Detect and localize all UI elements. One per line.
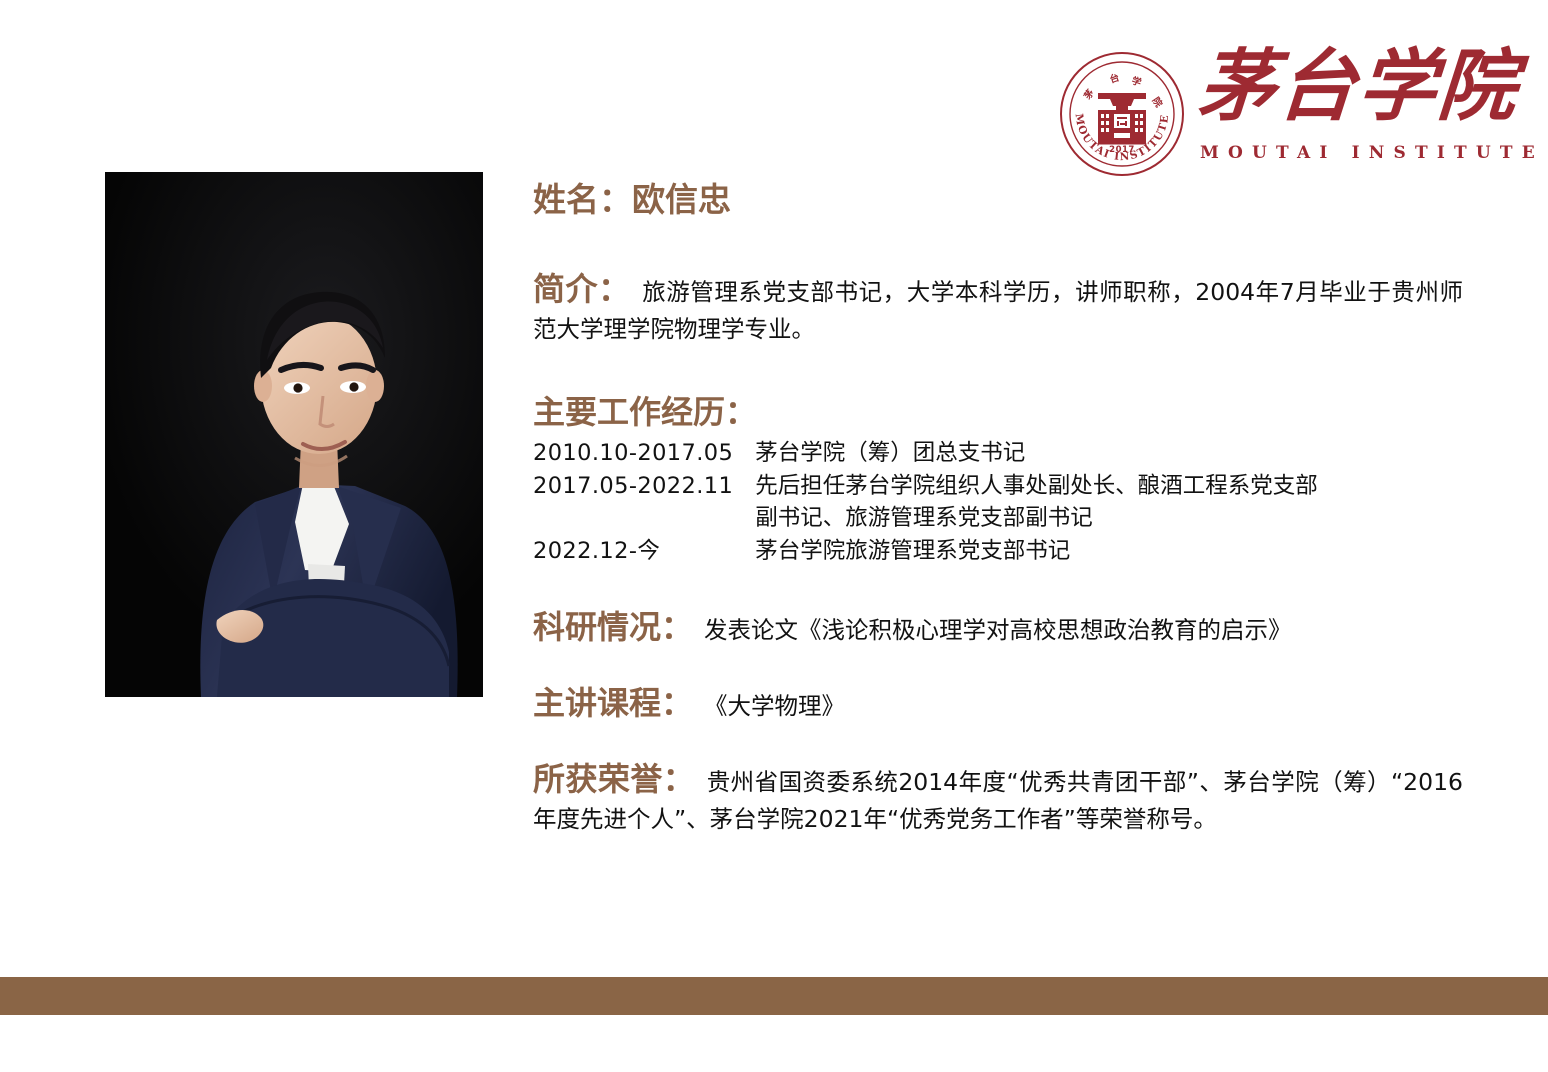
work-experience-table: 2010.10-2017.05 茅台学院（筹）团总支书记 2017.05-202… [533, 437, 1318, 567]
courses-block: 主讲课程：《大学物理》 [533, 685, 1463, 725]
moutai-institute-seal-icon: MOUTAI INSTITUTE 茅 台 学 院 [1058, 50, 1186, 178]
work-desc: 茅台学院旅游管理系党支部书记 [755, 535, 1318, 568]
portrait-photo [105, 172, 483, 697]
name-label: 姓名： [533, 180, 632, 219]
name-value: 欧信忠 [632, 180, 731, 219]
intro-text: 旅游管理系党支部书记，大学本科学历，讲师职称，2004年7月毕业于贵州师范大学理… [533, 278, 1463, 343]
profile-card: MOUTAI INSTITUTE 茅 台 学 院 [0, 0, 1548, 1072]
svg-text:茅: 茅 [1081, 87, 1097, 103]
institution-logo: MOUTAI INSTITUTE 茅 台 学 院 [1058, 42, 1498, 177]
logo-wordmark-cn: 茅台学院 [1195, 38, 1502, 136]
honors-block: 所获荣誉：贵州省国资委系统2014年度“优秀共青团干部”、茅台学院（筹）“201… [533, 761, 1463, 838]
research-block: 科研情况：发表论文《浅论积极心理学对高校思想政治教育的启示》 [533, 609, 1463, 649]
svg-text:学: 学 [1130, 74, 1143, 89]
work-date: 2010.10-2017.05 [533, 437, 755, 470]
work-experience-heading: 主要工作经历： [533, 392, 1463, 432]
logo-wordmark-en: MOUTAI INSTITUTE [1200, 143, 1544, 163]
research-text: 发表论文《浅论积极心理学对高校思想政治教育的启示》 [704, 616, 1292, 644]
research-label: 科研情况： [533, 608, 693, 646]
table-row: 2010.10-2017.05 茅台学院（筹）团总支书记 [533, 437, 1318, 470]
work-desc-line: 茅台学院旅游管理系党支部书记 [755, 535, 1318, 568]
table-row: 2017.05-2022.11 先后担任茅台学院组织人事处副处长、酿酒工程系党支… [533, 470, 1318, 535]
courses-text: 《大学物理》 [704, 692, 845, 720]
honors-label: 所获荣誉： [533, 760, 695, 798]
courses-label: 主讲课程： [533, 684, 693, 722]
logo-wordmark: 茅台学院 MOUTAI INSTITUTE [1198, 42, 1498, 177]
work-desc: 先后担任茅台学院组织人事处副处长、酿酒工程系党支部 副书记、旅游管理系党支部副书… [755, 470, 1318, 535]
seal-year: 2017 [1109, 145, 1135, 155]
work-desc: 茅台学院（筹）团总支书记 [755, 437, 1318, 470]
work-desc-line: 茅台学院（筹）团总支书记 [755, 437, 1318, 470]
work-desc-line: 先后担任茅台学院组织人事处副处长、酿酒工程系党支部 [755, 470, 1318, 503]
table-row: 2022.12-今 茅台学院旅游管理系党支部书记 [533, 535, 1318, 568]
name-row: 姓名：欧信忠 [533, 178, 1463, 222]
svg-text:院: 院 [1150, 95, 1166, 110]
work-date: 2017.05-2022.11 [533, 470, 755, 535]
profile-content: 姓名：欧信忠 简介：旅游管理系党支部书记，大学本科学历，讲师职称，2004年7月… [533, 178, 1463, 838]
work-date: 2022.12-今 [533, 535, 755, 568]
intro-block: 简介：旅游管理系党支部书记，大学本科学历，讲师职称，2004年7月毕业于贵州师范… [533, 271, 1463, 348]
footer-accent-bar [0, 977, 1548, 1015]
intro-label: 简介： [533, 270, 631, 308]
work-desc-line: 副书记、旅游管理系党支部副书记 [755, 502, 1318, 535]
svg-text:台: 台 [1108, 71, 1121, 86]
